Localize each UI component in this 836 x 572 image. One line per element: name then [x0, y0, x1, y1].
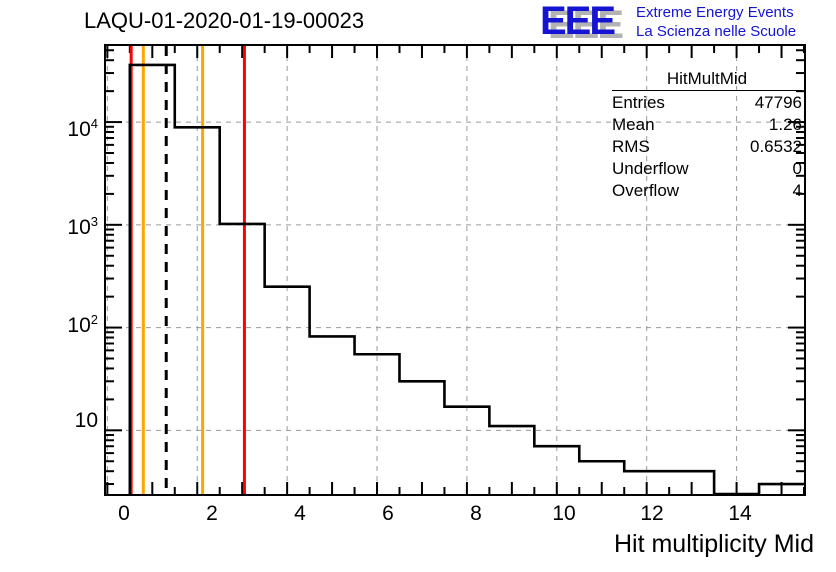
stats-row: Underflow0	[612, 157, 802, 179]
stats-box: HitMultMid Entries47796Mean1.26RMS0.6532…	[612, 68, 802, 201]
eee-logo: EEE EEE Extreme Energy Events La Scienza…	[540, 2, 832, 44]
stats-row: Overflow4	[612, 179, 802, 201]
eee-logo-line2: La Scienza nelle Scuole	[636, 22, 796, 41]
y-tick-label-1e2: 102	[40, 312, 98, 338]
root-canvas: LAQU-01-2020-01-19-00023 EEE EEE Extreme…	[0, 0, 836, 572]
marker-lines	[131, 46, 244, 494]
eee-logo-mark: EEE EEE	[540, 2, 632, 40]
eee-logo-text: Extreme Energy Events La Scienza nelle S…	[636, 3, 796, 41]
stats-title: HitMultMid	[612, 68, 802, 91]
y-tick-label-10: 10	[40, 409, 98, 433]
x-tick-label-10: 10	[544, 502, 584, 526]
x-axis-title: Hit multiplicity Mid	[614, 530, 814, 559]
stats-rows: Entries47796Mean1.26RMS0.6532Underflow0O…	[612, 91, 802, 201]
x-tick-label-8: 8	[456, 502, 496, 526]
x-tick-label-14: 14	[720, 502, 760, 526]
stats-value: 0.6532	[750, 136, 802, 157]
stats-value: 4	[793, 180, 802, 201]
eee-logo-front-letters: EEE	[540, 2, 614, 40]
y-tick-label-1e4: 104	[40, 116, 98, 142]
stats-key: Entries	[612, 92, 665, 113]
eee-logo-line1: Extreme Energy Events	[636, 3, 796, 22]
x-tick-label-6: 6	[368, 502, 408, 526]
x-tick-label-2: 2	[192, 502, 232, 526]
stats-key: Overflow	[612, 180, 679, 201]
stats-row: Mean1.26	[612, 113, 802, 135]
page-title: LAQU-01-2020-01-19-00023	[84, 8, 364, 34]
stats-value: 0	[793, 158, 802, 179]
stats-row: Entries47796	[612, 91, 802, 113]
stats-key: Underflow	[612, 158, 689, 179]
x-tick-label-4: 4	[280, 502, 320, 526]
stats-value: 47796	[755, 92, 802, 113]
x-tick-label-0: 0	[104, 502, 144, 526]
stats-key: RMS	[612, 136, 650, 157]
x-tick-label-12: 12	[632, 502, 672, 526]
stats-row: RMS0.6532	[612, 135, 802, 157]
y-tick-label-1e3: 103	[40, 214, 98, 240]
stats-value: 1.26	[769, 114, 802, 135]
stats-key: Mean	[612, 114, 655, 135]
